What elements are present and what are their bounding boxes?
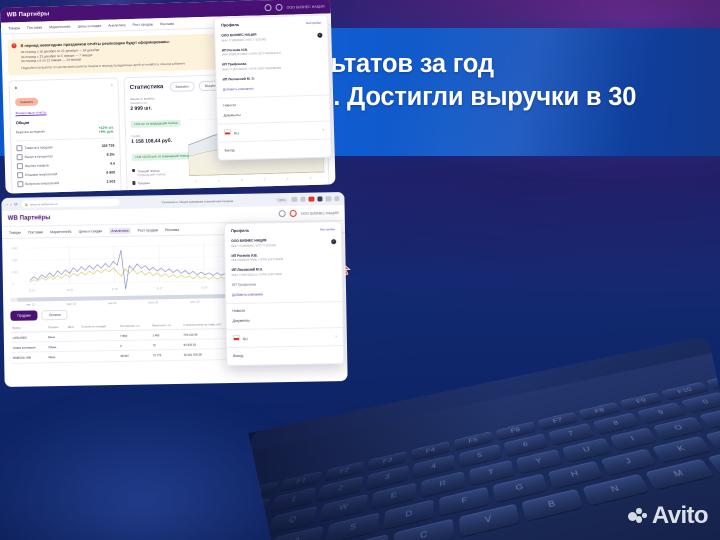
alert-bell-icon[interactable] <box>290 210 297 217</box>
kpi-value: 8.3% <box>107 152 115 156</box>
add-company-button[interactable]: Добавить компанию <box>226 288 342 300</box>
growth-rubles: +9% руб. <box>99 130 114 134</box>
svg-text:30: 30 <box>309 178 312 180</box>
left-profile-menu[interactable]: Профиль Настройки ООО БИЗНЕС НАЦИЯ ИНН 7… <box>214 15 332 161</box>
cell-date <box>66 341 79 351</box>
kpi-text: Отзывов покупателей <box>25 172 57 177</box>
kpi-row: Товаров в продаже 326 729 <box>16 142 114 151</box>
right-profile-menu[interactable]: Профиль Настройки ООО БИЗНЕС НАЦИЯ ИНН 7… <box>224 221 344 366</box>
profile-account-item[interactable]: ИП Трифонова <box>226 278 342 290</box>
cell-brand: Новая коллекция <box>11 342 46 353</box>
cell-stock <box>80 351 119 362</box>
svg-text:05: 05 <box>195 181 198 183</box>
svg-text:15: 15 <box>241 180 244 182</box>
left-screenshot-frame: WB Партнёры ООО БИЗНЕС НАЦИЯ Товары Пост… <box>0 0 339 197</box>
kpi-row: Вопросов покупателей 2 503 <box>17 178 115 187</box>
alert-icon: ! <box>11 43 16 48</box>
address-bar[interactable]: 🔒 wbpoint.wildberries.ru <box>21 199 119 208</box>
col-subject[interactable]: Предмет <box>46 323 66 332</box>
svg-text:01.03: 01.03 <box>67 290 74 292</box>
profile-menu-title: Профиль <box>221 22 239 28</box>
svg-text:01.07: 01.07 <box>157 288 164 290</box>
tab-ostatki[interactable]: Остатки <box>42 310 68 320</box>
svg-text:01.09: 01.09 <box>201 288 208 290</box>
left-screenshot: WB Партнёры ООО БИЗНЕС НАЦИЯ Товары Пост… <box>0 0 335 194</box>
kpi-label: Выкуп в процентах <box>17 153 53 160</box>
divider <box>227 345 343 348</box>
nav-item-ceny[interactable]: Цены и скидки <box>79 229 103 233</box>
svg-text:20: 20 <box>264 179 267 181</box>
tab-prodazhi[interactable]: Продажи <box>10 310 37 320</box>
profile-icon[interactable] <box>325 196 331 202</box>
cell-subject: Обувь <box>46 342 66 353</box>
browser-toolbar-right: 125% <box>275 196 340 203</box>
menu-item-documents[interactable]: Документы <box>226 314 342 326</box>
svg-text:01.05: 01.05 <box>112 289 119 291</box>
tab-title[interactable]: Сезонная и общая динамика и аналитика пр… <box>123 198 271 205</box>
cell-bought: 73 773 <box>151 350 182 361</box>
legend-swatch-sales <box>132 181 135 184</box>
account-detail: ИНН 503812674890 / ОГРН 3227746005 <box>231 256 335 262</box>
cell-bought: 70 <box>151 340 182 351</box>
forward-icon[interactable]: › <box>10 202 11 207</box>
nav-item-rost-prodazh[interactable]: Рост продаж <box>137 228 158 232</box>
right-account-label[interactable]: ООО БИЗНЕС НАЦИЯ <box>301 211 339 216</box>
kpi-text: Выкуп в процентах <box>25 154 53 159</box>
menu-item-label: Новости <box>232 309 245 313</box>
chip-zakazano[interactable]: Заказано <box>169 81 195 92</box>
check-icon: ✓ <box>317 33 322 38</box>
right-screenshot: ‹ › ⟳ 🔒 wbpoint.wildberries.ru Сезонная … <box>1 192 347 387</box>
flag-ru-icon <box>233 335 240 341</box>
right-header-right: ООО БИЗНЕС НАЦИЯ <box>279 209 339 217</box>
avito-wordmark: Avito <box>652 504 708 528</box>
divider <box>16 138 114 141</box>
svg-text:25: 25 <box>287 178 290 180</box>
cell-date <box>66 331 79 341</box>
cell-delivered: 7 860 <box>118 330 151 341</box>
notification-icon[interactable] <box>265 4 272 11</box>
nav-item-postavki[interactable]: Поставки <box>28 230 43 234</box>
chevron-down-icon: ▾ <box>322 128 324 132</box>
question-circle-icon <box>17 181 23 187</box>
bookmark-icon[interactable] <box>300 196 306 202</box>
nav-item-reklama[interactable]: Реклама <box>165 227 179 231</box>
menu-item-label: Документы <box>224 113 241 117</box>
menu-item-language[interactable]: RU ▾ <box>218 124 330 139</box>
menu-item-logout[interactable]: Выход <box>218 143 330 156</box>
recording-icon[interactable] <box>308 196 314 202</box>
svg-text:1 000: 1 000 <box>12 272 19 274</box>
reload-icon[interactable]: ⟳ <box>14 202 17 207</box>
profile-settings-link[interactable]: Настройки <box>320 227 335 231</box>
back-icon[interactable]: ‹ <box>6 202 7 207</box>
profile-settings-link[interactable]: Настройки <box>306 20 321 24</box>
svg-text:3 000: 3 000 <box>11 248 18 250</box>
col-date[interactable]: Дата <box>66 323 79 332</box>
nav-item-analitika[interactable]: Аналитика <box>108 23 125 27</box>
cell-stock <box>79 330 118 341</box>
cell-brand: BABOOLI WB <box>11 352 46 363</box>
cell-brand: LIFELINES <box>11 332 46 343</box>
account-detail: ИНН 771847292211 / ОГРН 318774600 <box>232 271 336 277</box>
check-icon: ✓ <box>331 239 336 244</box>
left-account-label[interactable]: ООО БИЗНЕС НАЦИЯ <box>287 4 325 9</box>
nav-item-reklama[interactable]: Реклама <box>160 21 174 25</box>
range-tick: сент. 23 <box>190 301 199 304</box>
url-text: wbpoint.wildberries.ru <box>30 202 58 206</box>
language-label: RU <box>243 337 248 341</box>
cell-stock <box>79 341 118 352</box>
left-header-right: ООО БИЗНЕС НАЦИЯ <box>265 3 325 12</box>
svg-text:01.01: 01.01 <box>29 291 36 293</box>
help-icon[interactable] <box>276 4 283 11</box>
avito-watermark: Avito <box>628 504 708 528</box>
right-screenshot-frame: ‹ › ⟳ 🔒 wbpoint.wildberries.ru Сезонная … <box>0 189 351 390</box>
kpi-text: Вопросов покупателей <box>25 181 59 186</box>
kpi-text: Оценка товаров <box>25 163 49 168</box>
divider <box>227 327 343 330</box>
metric-2-badge: +438 412,56 руб. за предыдущий период <box>132 153 193 162</box>
range-tick: янв. 23 <box>26 303 35 306</box>
left-app-logo: WB Партнёры <box>7 11 50 18</box>
account-name: ИП Трифонова <box>232 281 336 287</box>
nav-item-ceny[interactable]: Цены и скидки <box>78 23 102 28</box>
menu-item-logout[interactable]: Выход <box>227 349 343 361</box>
menu-item-label: Документы <box>233 319 250 323</box>
svg-text:10: 10 <box>218 180 221 182</box>
nav-item-marketplace[interactable]: Маркетплейс <box>49 24 71 29</box>
account-name: ИП Лисовский М. Э. <box>222 74 322 81</box>
cell-delivered: 38 967 <box>118 350 151 361</box>
range-tick: март 23 <box>67 303 76 306</box>
kpi-text: Товаров в продаже <box>24 145 52 150</box>
flag-ru-icon <box>224 129 231 135</box>
nav-item-postavki[interactable]: Поставки <box>27 25 42 29</box>
nav-item-analitika[interactable]: Аналитика <box>109 227 130 233</box>
poster-canvas: escF1F2F3F4F5F6F7F8F9F10F11F12 ~12345678… <box>0 0 720 540</box>
lock-icon: 🔒 <box>24 202 28 206</box>
metric-1-badge: +329 шт. за предыдущий период <box>131 120 181 128</box>
menu-item-label: Новости <box>223 103 236 107</box>
cell-delivered: 0 <box>118 340 151 351</box>
profile-menu-title: Профиль <box>231 228 249 233</box>
menu-icon[interactable] <box>317 196 323 202</box>
chevron-down-icon: ▾ <box>335 335 337 339</box>
kpi-value: 2 503 <box>107 179 116 183</box>
sales-label: Продажи <box>138 181 150 185</box>
star-icon <box>17 163 23 169</box>
kpi-row: Оценка товаров 4.4 <box>17 160 115 169</box>
range-tick: май 23 <box>108 302 116 305</box>
summary-card: 0 ? Заказать Финансовые отчёты Общая Выр… <box>9 77 122 193</box>
kpi-row: Отзывов покупателей 6 900 <box>17 169 115 178</box>
menu-item-language[interactable]: RU ▾ <box>227 330 343 344</box>
statistics-title: Статистика <box>130 84 164 91</box>
kpi-value: 6 900 <box>106 170 115 174</box>
cell-subject: Мячи <box>46 331 66 342</box>
financial-reports-link[interactable]: Финансовые отчёты <box>15 109 113 116</box>
chat-icon <box>17 172 23 178</box>
kpi-label: Оценка товаров <box>17 162 49 169</box>
legend-swatch-primary <box>132 169 135 172</box>
svg-text:2 000: 2 000 <box>11 260 18 262</box>
menu-item-documents[interactable]: Документы <box>217 108 329 121</box>
range-tick: июль 23 <box>148 301 158 304</box>
kpi-label: Товаров в продаже <box>16 144 52 151</box>
svg-text:0: 0 <box>12 285 14 287</box>
more-icon[interactable] <box>334 196 340 202</box>
cell-bought: 1 462 <box>150 329 181 340</box>
right-app-logo: WB Партнёры <box>8 215 51 222</box>
nav-item-marketplace[interactable]: Маркетплейс <box>50 229 72 233</box>
browser-nav-buttons: ‹ › ⟳ <box>6 202 17 207</box>
zoom-level[interactable]: 125% <box>275 196 289 202</box>
language-label: RU <box>234 132 239 136</box>
growth-label: Выручка за неделю <box>16 130 45 135</box>
cell-date <box>66 352 79 362</box>
kpi-value: 4.4 <box>110 161 115 165</box>
nav-item-tovary[interactable]: Товары <box>9 230 21 234</box>
logout-label: Выход <box>224 148 234 152</box>
kpi-label: Отзывов покупателей <box>17 171 57 178</box>
avito-logo-icon <box>628 508 647 524</box>
kpi-row: Выкуп в процентах 8.3% <box>17 151 115 160</box>
cell-subject: Мячи <box>46 352 66 363</box>
summary-count: 0 <box>15 86 17 90</box>
calendar-icon <box>17 154 23 160</box>
nav-item-rost-prodazh[interactable]: Рост продаж <box>132 22 153 27</box>
order-button[interactable]: Заказать <box>15 98 38 106</box>
notification-icon[interactable] <box>279 210 286 217</box>
kpi-label: Вопросов покупателей <box>17 180 59 187</box>
summary-section-title: Общая <box>16 118 114 126</box>
kpi-value: 326 729 <box>102 143 115 147</box>
box-icon <box>16 145 22 151</box>
help-question-icon[interactable]: ? <box>111 84 113 88</box>
logout-label: Выход <box>233 354 243 358</box>
extension-icon[interactable] <box>291 197 297 203</box>
nav-item-tovary[interactable]: Товары <box>8 26 20 30</box>
divider <box>226 301 342 304</box>
summary-card-header: 0 ? <box>15 84 113 91</box>
growth-row: Выручка за неделю +12% шт. +9% руб. <box>16 126 114 137</box>
